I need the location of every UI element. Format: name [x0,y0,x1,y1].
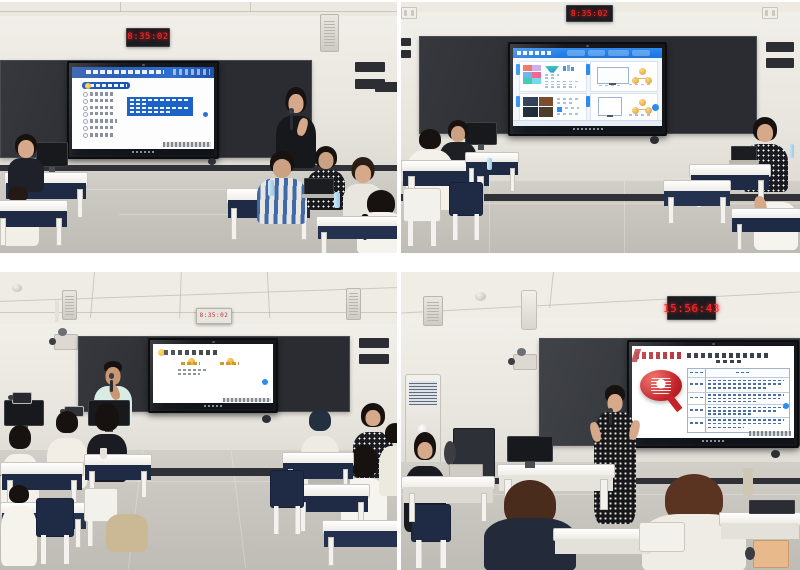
chair [270,470,304,534]
audience-member [6,136,46,192]
clock-digits: 15:56:43 [663,303,720,314]
highlight-line [130,111,170,113]
platform-brand-label [517,51,553,56]
smart-screen[interactable] [508,42,667,136]
card-text-lines [557,98,579,100]
nav-tab[interactable] [588,50,606,56]
backpack [106,514,148,552]
outline-item [90,99,114,102]
table-cell-line [708,419,784,421]
lectern-monitor [507,436,553,468]
screen-taskbar[interactable] [72,149,214,155]
sub-heading-label [181,362,200,365]
dashboard-card[interactable] [519,93,587,122]
wall-vent-far [375,82,397,92]
thumbnail [523,107,537,117]
color-swatch [523,78,532,84]
slide-bottom-right [632,346,794,438]
wall-speaker [320,14,339,52]
document-mockup-icon [598,97,622,115]
card-text-lines [545,77,557,79]
thumbnail [523,97,537,107]
color-swatch [523,65,532,71]
slide-highlight-box [127,97,192,117]
outline-bullet-icon [83,106,88,111]
led-wall-clock: 8:35:02 [126,28,170,47]
table-cell-line [708,380,784,382]
smart-screen[interactable] [67,61,219,159]
color-swatch [532,65,541,71]
clock-digits: 8:35:02 [127,33,168,42]
table-cell-line [708,410,778,412]
wall-vent-right-upper [766,42,794,52]
outline-item [90,106,114,109]
table-header-label [736,372,750,374]
thumbnail [539,107,553,117]
slide-title-text [687,353,771,358]
projector [54,334,78,350]
wall-vent-lower [359,354,389,364]
wall-speaker-left [62,290,77,320]
table-row-label [690,422,703,424]
outline-bullet-icon [83,112,88,117]
slide-header-bar [72,67,214,78]
table-row-label [690,409,703,411]
wall-outlet [762,7,778,19]
led-wall-clock: 8:35:02 [566,5,613,22]
audience-member [256,154,308,224]
taskbar-icons[interactable] [702,440,724,442]
wall-camera-icon [771,450,780,458]
ceiling-dome-camera-icon [12,284,22,292]
screen-camera-icon [142,64,145,66]
water-bottle [487,158,492,170]
table-cell-line [708,387,766,389]
card-text-lines [557,102,574,104]
highlight-line [130,99,190,101]
node-icon [639,99,646,106]
card-text-lines [545,81,579,82]
projector [513,354,537,370]
wall-vent-upper [355,62,385,72]
slide-section-label [90,84,128,87]
paper-cup [100,448,107,459]
outline-item [90,112,114,115]
outline-bullet-icon [83,119,88,124]
photo-collage: 8:35:02 [0,0,800,570]
card-text-lines [545,84,574,85]
slide-top-left [72,67,214,149]
clock-secondary-text [668,314,715,318]
desk [663,180,731,224]
clock-digits: 8:35:02 [200,313,229,319]
nav-tab[interactable] [608,50,629,56]
ceiling-camera-icon [58,328,67,336]
desk [322,520,397,566]
screen-panel [72,67,214,149]
dashboard-slide [513,48,662,126]
outline-bullet-icon [83,133,88,138]
ceiling-camera-icon [517,348,526,356]
desk [316,216,397,253]
chair [403,188,441,246]
card-caption [629,114,650,116]
water-bottle [334,192,340,208]
card-side-tab[interactable] [516,96,520,107]
wall-vent-right-lower [766,58,794,68]
taskbar-icons[interactable] [204,405,222,407]
microphone [110,380,113,392]
wall-vent-lower [401,50,411,58]
wall-vent-upper [359,338,389,348]
bar-chart-icon [567,65,570,71]
thermos [743,468,753,496]
chair [36,498,74,564]
dashboard-card[interactable] [590,61,658,92]
color-swatch [532,72,541,78]
color-swatch [532,78,541,84]
slide-ribbon-tag [635,352,684,359]
color-swatch [523,72,532,78]
water-bottle [268,180,274,196]
nav-tab[interactable] [632,50,650,56]
tablet [749,500,795,516]
screen-panel [153,344,273,403]
card-text-lines [545,74,559,76]
nav-tab[interactable] [567,50,585,56]
table-row-label [690,397,703,399]
table-cell-line [708,407,784,409]
microphone [290,116,293,130]
table-row-label [690,383,703,385]
desk [731,208,800,250]
card-side-tab[interactable] [516,64,520,75]
photo-bottom-left[interactable]: 8:35:02 [0,272,397,570]
classroom-scene-bottom-left: 8:35:02 [0,272,397,570]
outline-item [90,126,114,129]
water-bottle [789,144,794,158]
outline-item [90,119,117,122]
led-wall-clock: 8:35:02 [196,308,232,324]
table-cell-line [708,413,752,415]
dashboard-card[interactable] [519,61,587,92]
screen-taskbar[interactable] [513,126,662,132]
card-side-tab[interactable] [586,96,590,107]
ceiling-camera-icon [650,136,659,144]
monitor-mockup-icon [597,67,629,84]
table-cell-line [708,398,780,400]
outline-item [90,133,114,136]
table-cell-line [708,394,784,396]
card-text-lines [557,113,579,115]
desk [553,528,653,570]
table-cell-line [708,401,758,403]
wall-speaker-right [346,288,361,320]
card-side-tab[interactable] [586,64,590,75]
taskbar-icons[interactable] [132,151,154,153]
outline-item [90,92,114,95]
screen-camera-icon [712,343,715,345]
node-icon [639,68,646,75]
outline-bullet-icon [83,126,88,131]
slide-corner-mark-icon [203,112,208,117]
thumbnail [539,97,553,107]
audience-member [0,488,38,566]
outline-bullet-icon [83,99,88,104]
laptop [304,178,334,198]
wall-vent-upper [401,38,411,46]
card-text-lines [545,86,576,87]
chair [639,522,685,570]
wall-dispenser [521,290,537,330]
desk [0,200,68,246]
sub-heading-label [220,362,239,365]
slide-toolbar-strip [749,431,791,437]
slide-title-text [164,350,219,354]
highlight-line [130,103,146,105]
taskbar-icons[interactable] [573,128,603,130]
screen-taskbar[interactable] [632,438,794,444]
body-line [178,369,207,371]
photo-bottom-right[interactable]: 15:56:43 [401,272,800,570]
desk [401,476,495,522]
photo-top-right[interactable]: 8:35:02 [401,2,800,253]
audience-member [378,426,397,496]
wall-pipe [55,300,59,322]
ceiling [401,272,800,324]
institution-logo [173,69,210,75]
folder [753,540,789,568]
card-caption [629,84,651,86]
table-cell-line [708,383,782,385]
body-line [178,373,200,375]
reference-table [687,368,789,433]
card-text-lines [565,107,579,109]
slide-corner-mark-icon [262,379,268,385]
slide-toolbar-strip [223,398,271,402]
led-wall-clock: 15:56:43 [667,296,716,320]
smart-screen[interactable] [148,338,278,413]
table-cell-line [708,427,744,429]
outline-bullet-icon [83,92,88,97]
clock-digits: 8:35:02 [571,10,608,18]
screen-camera-icon [586,45,589,47]
card-caption [599,85,623,87]
table-cell-line [708,423,782,425]
slide-toolbar-strip [163,142,211,148]
microphone [609,414,612,425]
wall-outlet [401,7,417,19]
laptop [731,146,757,164]
screen-camera-icon [212,341,215,343]
slide-bottom-left [153,344,273,403]
ceiling-camera-icon [208,158,216,165]
bullet-dot-icon [85,83,91,89]
magnifying-glass-emblem-icon [640,370,682,412]
screen-taskbar[interactable] [153,403,273,409]
dashboard-nav[interactable] [513,48,662,58]
slide-subtitle-text [716,360,742,364]
classroom-scene-top-left: 8:35:02 [0,2,397,253]
card-accent [557,107,562,112]
screen-panel [632,346,794,438]
bar-chart-icon [571,67,574,70]
smart-screen[interactable] [627,340,799,448]
slide-title-text [86,70,164,75]
bar-chart-icon [563,66,566,71]
ceiling-dome-camera-icon [475,292,486,301]
equipment-box [12,392,32,404]
highlight-line [130,107,190,109]
classroom-scene-top-right: 8:35:02 [401,2,800,253]
funnel-chart-icon [545,66,559,73]
chair [449,182,483,240]
dashboard-card[interactable] [590,93,658,122]
wall-speaker-left [423,296,443,326]
table-header-label [690,372,703,374]
classroom-scene-bottom-right: 15:56:43 [401,272,800,570]
ceiling-camera-icon [262,415,271,423]
screen-panel [513,48,662,126]
photo-top-left[interactable]: 8:35:02 [0,2,397,253]
